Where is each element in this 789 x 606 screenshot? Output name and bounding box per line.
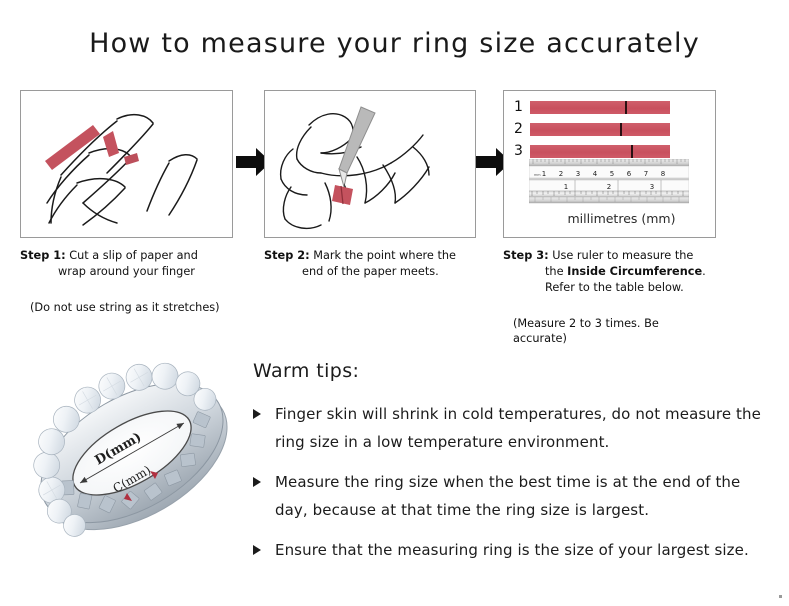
page-title: How to measure your ring size accurately: [0, 28, 789, 59]
step-3-line2-suffix: .: [702, 265, 706, 278]
svg-text:6: 6: [627, 170, 632, 178]
svg-text:8: 8: [661, 170, 665, 178]
step-3-line1: Use ruler to measure the: [552, 249, 693, 262]
step-2-column: Step 2: Mark the point where the end of …: [264, 90, 476, 280]
measured-strip-row: 1: [514, 101, 670, 114]
paper-strip: [530, 123, 670, 136]
paper-slip-red: [45, 125, 139, 170]
step-3-line2-prefix: the: [545, 265, 567, 278]
step-3-label: Step 3:: [503, 249, 549, 262]
pen-icon: [339, 107, 375, 192]
svg-text:3: 3: [576, 170, 580, 178]
step-1-label: Step 1:: [20, 249, 66, 262]
diamond-eternity-ring-photo: D(mm) C(mm): [16, 353, 248, 553]
corner-mark: [779, 595, 782, 598]
bullet-triangle-icon: [253, 477, 261, 487]
svg-text:7: 7: [644, 170, 648, 178]
step-1-line1: Cut a slip of paper and: [69, 249, 198, 262]
measured-strip-row: 3: [514, 145, 670, 158]
warm-tips-block: Warm tips: Finger skin will shrink in co…: [253, 360, 773, 576]
step-3-column: 1 2 3: [503, 90, 716, 346]
strip-number: 2: [514, 123, 530, 136]
step-1-column: Step 1: Cut a slip of paper and wrap aro…: [20, 90, 233, 315]
svg-text:2: 2: [559, 170, 563, 178]
steps-row: Step 1: Cut a slip of paper and wrap aro…: [0, 90, 789, 340]
strip-mark: [620, 123, 622, 136]
step-2-line1: Mark the point where the: [313, 249, 456, 262]
step-1-panel: [20, 90, 233, 238]
tip-text: Ensure that the measuring ring is the si…: [275, 541, 749, 559]
tip-text: Finger skin will shrink in cold temperat…: [275, 405, 761, 451]
step-2-line2: end of the paper meets.: [264, 264, 476, 280]
svg-text:1: 1: [542, 170, 546, 178]
paper-band-red: [332, 185, 353, 205]
ruler-icon: mm 1 2 3 4 5 6 7 8: [529, 159, 689, 205]
step-3-panel: 1 2 3: [503, 90, 716, 238]
step-3-caption: Step 3: Use ruler to measure the the Ins…: [503, 248, 716, 296]
step-1-note: (Do not use string as it stretches): [20, 300, 233, 315]
svg-text:mm: mm: [534, 173, 541, 177]
step-2-panel: [264, 90, 476, 238]
svg-text:4: 4: [593, 170, 598, 178]
strip-number: 1: [514, 101, 530, 114]
svg-text:2: 2: [607, 183, 611, 191]
ruler-unit-caption: millimetres (mm): [504, 211, 715, 226]
step-2-caption: Step 2: Mark the point where the end of …: [264, 248, 476, 280]
inside-circumference-emphasis: Inside Circumference: [567, 265, 702, 278]
svg-text:5: 5: [610, 170, 614, 178]
step-1-caption: Step 1: Cut a slip of paper and wrap aro…: [20, 248, 233, 280]
strip-mark: [631, 145, 633, 158]
step-2-label: Step 2:: [264, 249, 310, 262]
hand-marking-paper-with-pen-illustration: [265, 91, 475, 237]
warm-tips-heading: Warm tips:: [253, 360, 773, 382]
svg-text:3: 3: [650, 183, 654, 191]
tip-text: Measure the ring size when the best time…: [275, 473, 740, 519]
paper-strip: [530, 145, 670, 158]
ruler-with-paper-strips-illustration: 1 2 3: [504, 91, 715, 237]
strip-mark: [625, 101, 627, 114]
tip-item: Finger skin will shrink in cold temperat…: [253, 400, 773, 456]
measured-strip-row: 2: [514, 123, 670, 136]
step-3-note: (Measure 2 to 3 times. Be accurate): [503, 316, 716, 346]
lower-section: D(mm) C(mm) Warm tips: Finger skin will …: [0, 345, 789, 606]
step-1-line2: wrap around your finger: [20, 264, 233, 280]
step-3-line3: Refer to the table below.: [503, 280, 716, 296]
tip-item: Ensure that the measuring ring is the si…: [253, 536, 773, 564]
hand-with-paper-slip-illustration: [21, 91, 232, 237]
paper-strip: [530, 101, 670, 114]
svg-text:1: 1: [564, 183, 568, 191]
strip-number: 3: [514, 145, 530, 158]
bullet-triangle-icon: [253, 409, 261, 419]
tip-item: Measure the ring size when the best time…: [253, 468, 773, 524]
bullet-triangle-icon: [253, 545, 261, 555]
